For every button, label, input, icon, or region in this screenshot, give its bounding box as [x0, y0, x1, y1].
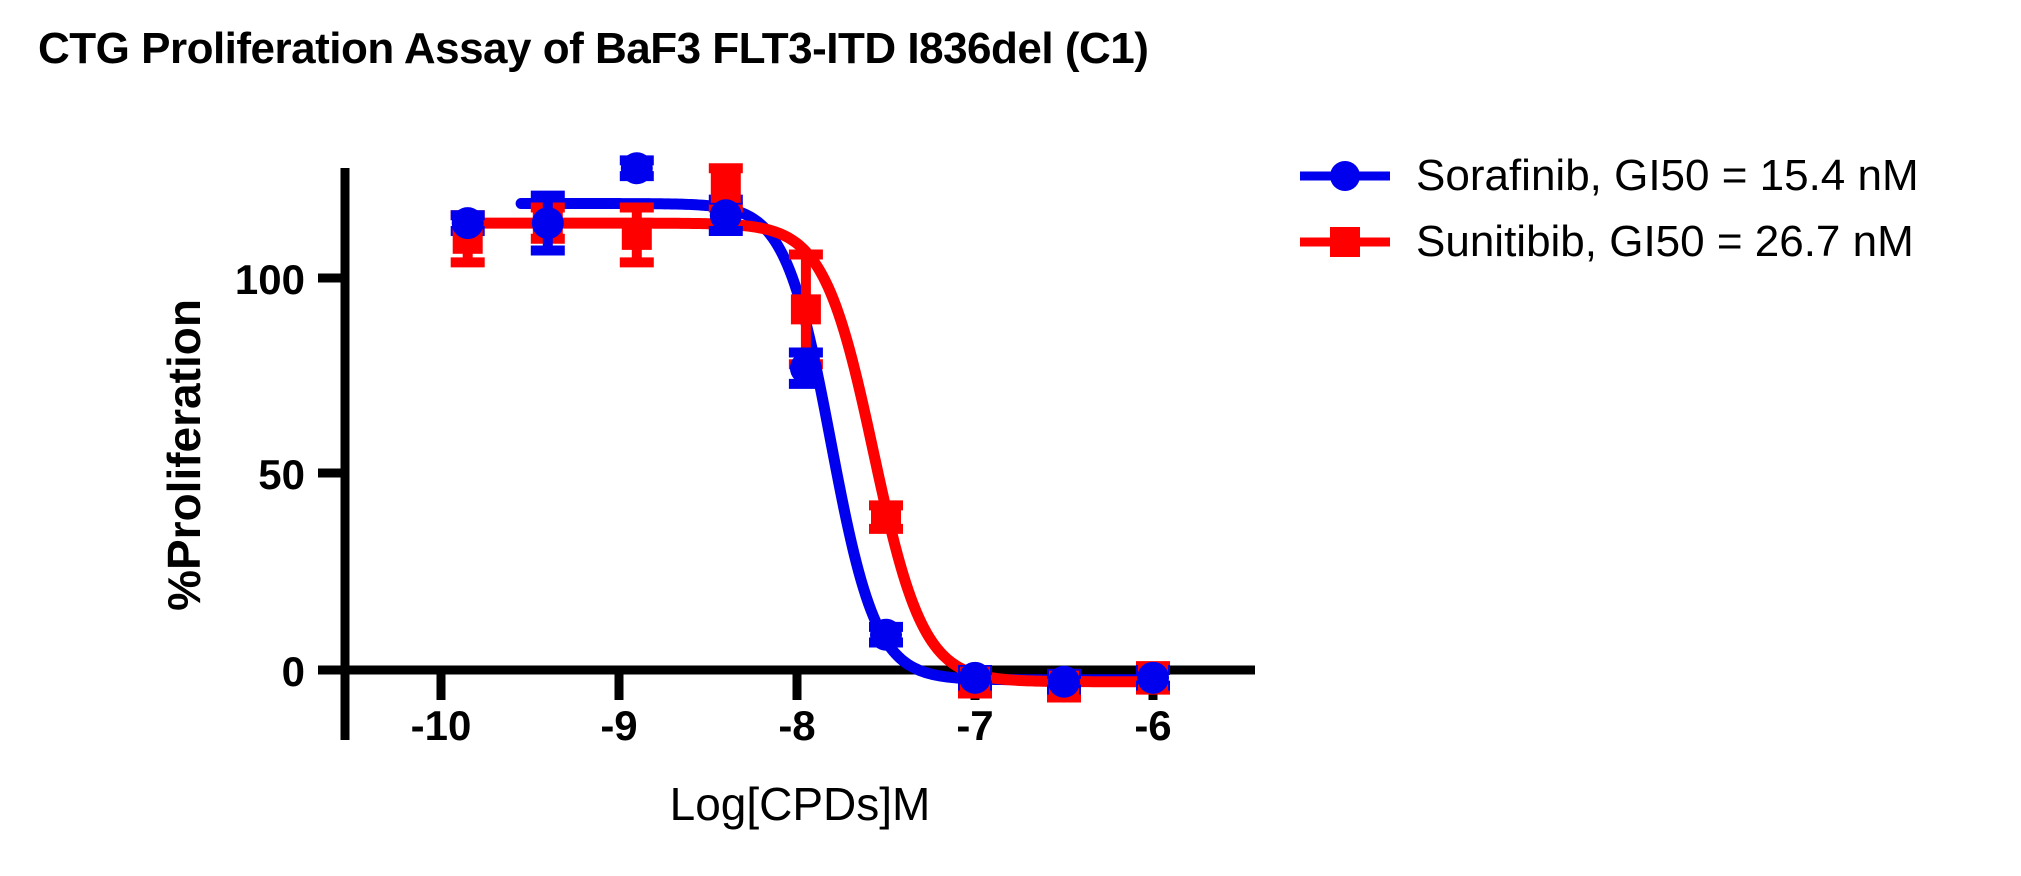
legend-item-sorafinib[interactable]: Sorafinib, GI50 = 15.4 nM [1300, 150, 1919, 202]
legend-item-sunitibib[interactable]: Sunitibib, GI50 = 26.7 nM [1300, 216, 1919, 268]
circle-marker-icon [1330, 161, 1360, 191]
x-tick-label--9: -9 [600, 702, 637, 749]
data-point-circle [959, 662, 991, 694]
data-point-circle [1048, 666, 1080, 698]
data-point-circle [621, 152, 653, 184]
data-point-circle [710, 199, 742, 231]
x-tick-label--8: -8 [778, 702, 815, 749]
data-point-circle [452, 207, 484, 239]
y-tick-label-100: 100 [235, 256, 305, 303]
x-tick-label--7: -7 [956, 702, 993, 749]
data-point-circle [1137, 662, 1169, 694]
data-point-circle [870, 619, 902, 651]
chart-plot-area: 100 50 0 -10 -9 -8 -7 -6 Log[CPDs]M %Pro… [0, 0, 2021, 876]
x-tick-label--6: -6 [1134, 702, 1171, 749]
legend-key-sunitibib [1300, 222, 1390, 262]
data-point-circle [532, 207, 564, 239]
x-axis-tick-labels: -10 -9 -8 -7 -6 [411, 702, 1172, 749]
y-axis-tick-labels: 100 50 0 [235, 256, 305, 695]
curve-sorafinib [521, 204, 1162, 680]
curve-sunitibib [468, 223, 1162, 682]
y-tick-label-0: 0 [282, 648, 305, 695]
legend-label-sunitibib: Sunitibib, GI50 = 26.7 nM [1416, 220, 1914, 264]
data-point-square [791, 294, 821, 324]
legend-key-sorafinib [1300, 156, 1390, 196]
y-tick-label-50: 50 [258, 451, 305, 498]
square-marker-icon [1330, 227, 1360, 257]
legend-label-sorafinib: Sorafinib, GI50 = 15.4 nM [1416, 154, 1919, 198]
data-point-square [871, 502, 901, 532]
x-tick-label--10: -10 [411, 702, 472, 749]
chart-legend: Sorafinib, GI50 = 15.4 nM Sunitibib, GI5… [1300, 150, 1919, 268]
data-points-sorafinib [452, 152, 1169, 698]
x-axis-title: Log[CPDs]M [670, 778, 931, 830]
data-point-circle [790, 352, 822, 384]
data-point-square [711, 173, 741, 203]
y-axis-title: %Proliferation [158, 299, 210, 611]
data-point-square [622, 220, 652, 250]
